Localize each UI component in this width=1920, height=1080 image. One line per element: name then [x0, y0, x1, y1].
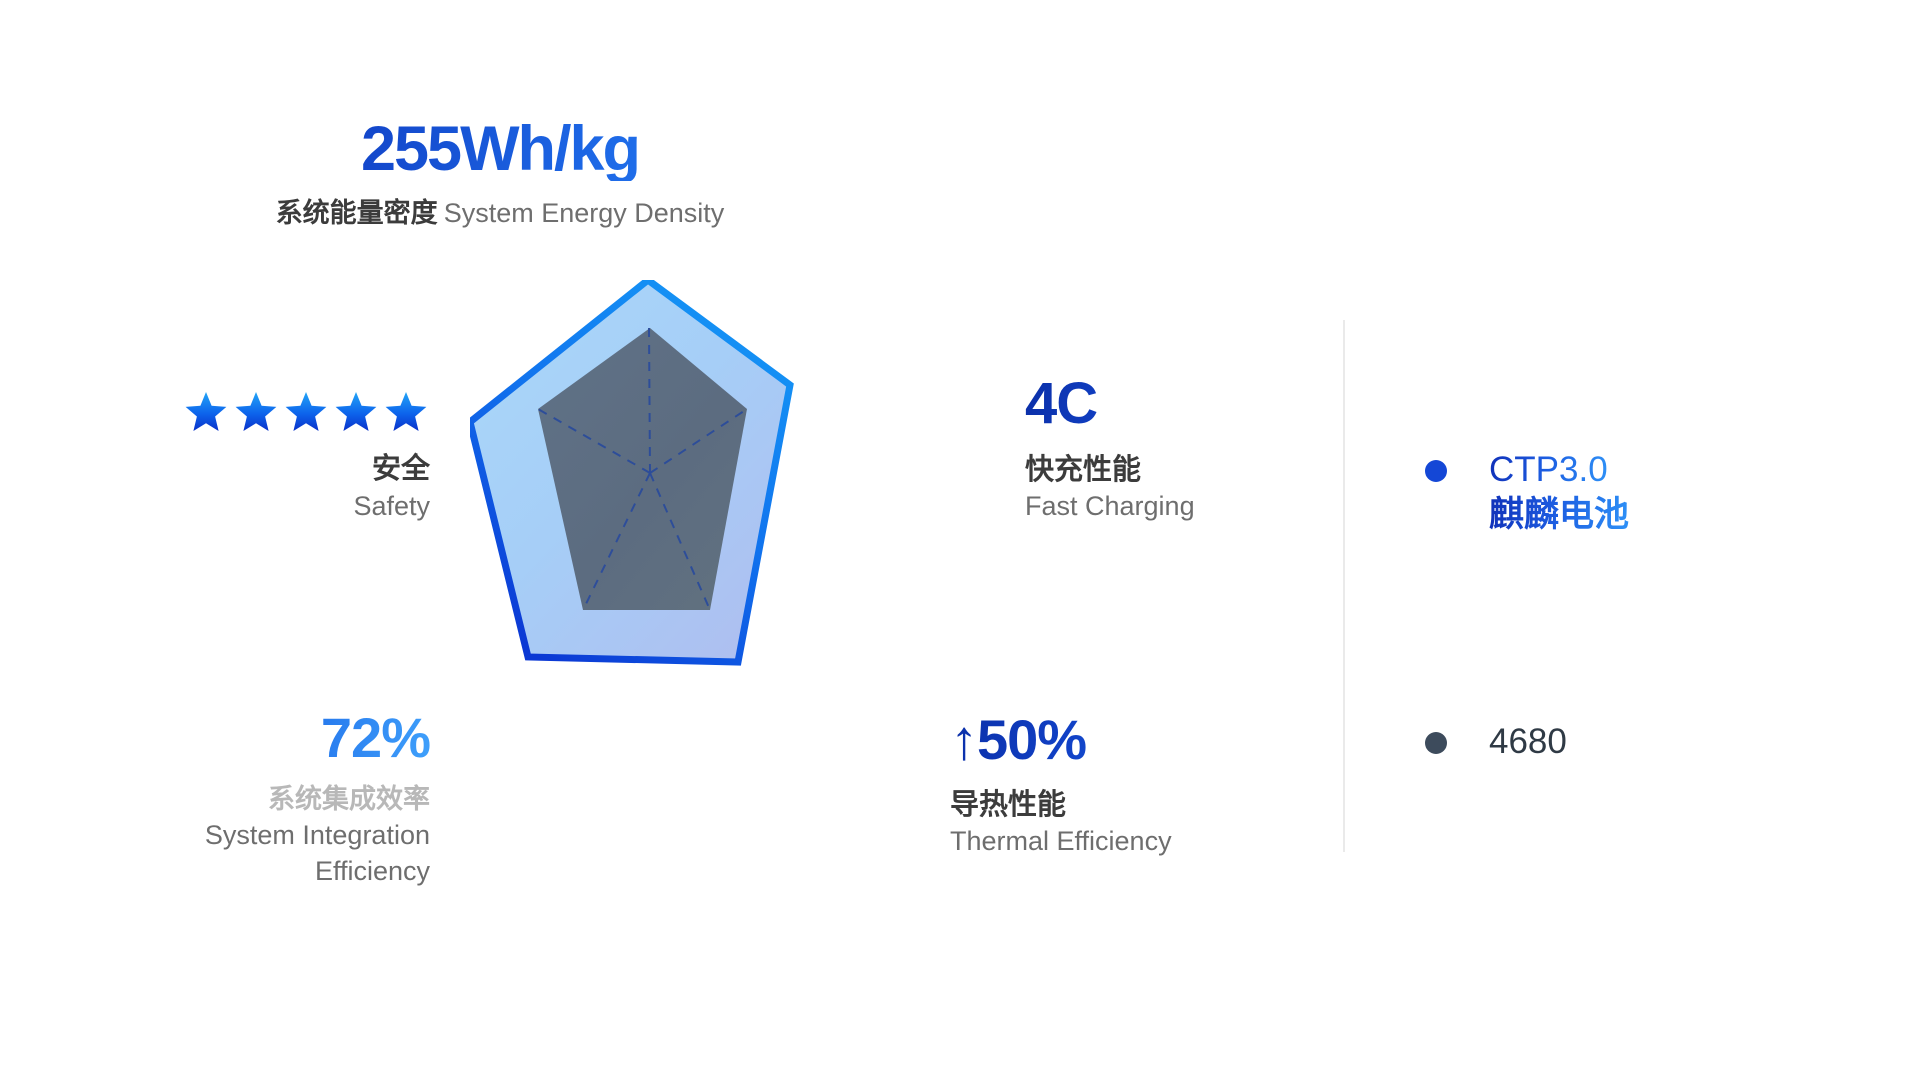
star-icon: [186, 392, 227, 431]
integration-label-en-line1: System Integration: [0, 818, 430, 853]
infographic-canvas: 255Wh/kg 系统能量密度System Energy Density: [0, 0, 1920, 1080]
legend-item-ctp30[interactable]: CTP3.0 麒麟电池: [1425, 448, 1845, 538]
safety-label-en: Safety: [0, 490, 430, 522]
metric-system-integration-efficiency: 72% 系统集成效率 System Integration Efficiency: [0, 710, 430, 889]
star-icon: [286, 392, 327, 431]
legend-ctp30-line1: CTP3.0: [1489, 450, 1608, 489]
legend-ctp30-line2: 麒麟电池: [1489, 495, 1629, 534]
legend-label-ctp30: CTP3.0 麒麟电池: [1489, 448, 1629, 538]
thermal-label-en: Thermal Efficiency: [950, 825, 1330, 857]
radar-chart: [470, 280, 930, 800]
fast-charging-value: 4C: [1025, 375, 1325, 433]
star-group-icon: [185, 390, 430, 434]
headline-label-en: System Energy Density: [444, 198, 725, 228]
metric-thermal-efficiency: ↑50% 导热性能 Thermal Efficiency: [950, 712, 1330, 858]
safety-label-cn: 安全: [0, 452, 430, 486]
integration-label-en-line2: Efficiency: [0, 854, 430, 889]
legend-4680-line1: 4680: [1489, 722, 1567, 761]
headline-value: 255Wh/kg: [0, 118, 1000, 181]
thermal-value: ↑50%: [950, 712, 1330, 768]
thermal-label-cn: 导热性能: [950, 788, 1330, 822]
integration-value: 72%: [0, 710, 430, 766]
legend-dot-icon: [1425, 460, 1447, 482]
fast-charging-label-en: Fast Charging: [1025, 490, 1325, 522]
headline-subtitle: 系统能量密度System Energy Density: [0, 197, 1000, 230]
star-icon: [386, 392, 427, 431]
metric-safety: 安全 Safety: [0, 390, 430, 523]
star-icon: [336, 392, 377, 431]
metric-fast-charging: 4C 快充性能 Fast Charging: [1025, 375, 1325, 523]
chart-legend: CTP3.0 麒麟电池 4680: [1425, 448, 1845, 764]
headline-energy-density: 255Wh/kg 系统能量密度System Energy Density: [0, 118, 1000, 230]
legend-dot-icon: [1425, 732, 1447, 754]
star-icon: [236, 392, 277, 431]
fast-charging-label-cn: 快充性能: [1025, 453, 1325, 487]
headline-label-cn: 系统能量密度: [276, 198, 438, 228]
legend-item-4680[interactable]: 4680: [1425, 720, 1845, 765]
vertical-divider: [1343, 320, 1345, 852]
safety-star-rating: [0, 390, 430, 434]
legend-label-4680: 4680: [1489, 720, 1567, 765]
radar-svg: [470, 280, 930, 800]
integration-label-cn: 系统集成效率: [0, 784, 430, 816]
